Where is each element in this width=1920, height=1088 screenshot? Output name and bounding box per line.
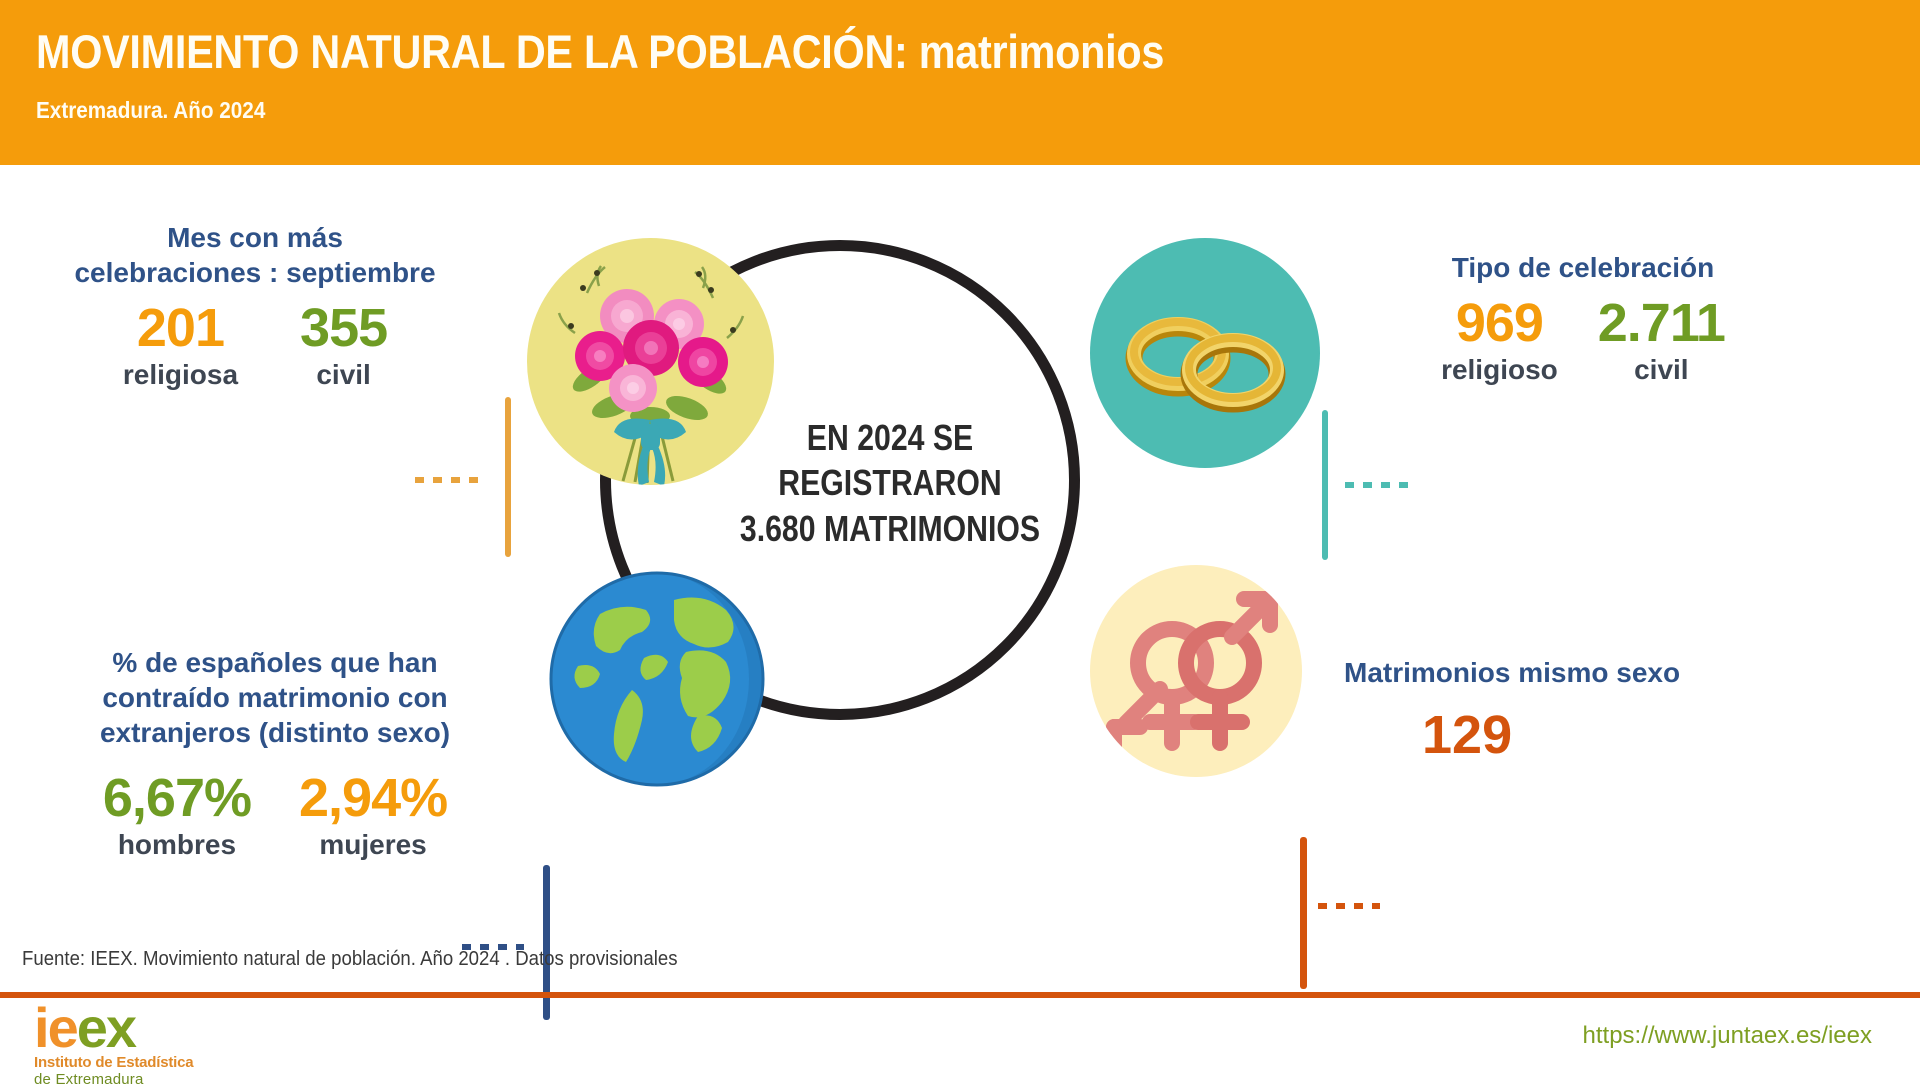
page-header: MOVIMIENTO NATURAL DE LA POBLACIÓN: matr… [0,0,1920,165]
stat-figures-celebration-type: 969 religioso 2.711 civil [1348,295,1818,386]
figure-religiosa: 201 religiosa [123,300,238,391]
divider-bar-top-right [1322,410,1328,560]
stat-heading-foreign-spouse: % de españoles que han contraído matrimo… [50,645,500,750]
ieex-logo-e1: e [48,996,77,1059]
infographic-stage: EN 2024 SE REGISTRARON 3.680 MATRIMONIOS… [0,165,1920,935]
stat-heading-month-line2: celebraciones : septiembre [20,255,490,290]
wedding-rings-icon [1090,238,1320,468]
center-summary: EN 2024 SE REGISTRARON 3.680 MATRIMONIOS [730,415,1049,551]
stat-heading-month-line1: Mes con más [20,220,490,255]
figure-religioso: 969 religioso [1441,295,1558,386]
divider-bar-top-left [505,397,511,557]
figure-religiosa-label: religiosa [123,359,238,391]
stat-figures-month: 201 religiosa 355 civil [20,300,490,391]
figure-religiosa-value: 201 [123,300,238,357]
page-title: MOVIMIENTO NATURAL DE LA POBLACIÓN: matr… [36,24,1694,79]
gender-symbols-icon [1090,565,1302,777]
stat-heading-same-sex: Matrimonios mismo sexo [1344,655,1822,690]
stat-block-celebration-type: Tipo de celebración 969 religioso 2.711 … [1348,250,1818,386]
figure-mujeres-value: 2,94% [299,770,447,827]
ieex-logo-e2: e [77,996,106,1059]
divider-bar-bottom-right [1300,837,1307,989]
figure-religioso-label: religioso [1441,354,1558,386]
ieex-logo-x: x [106,996,135,1059]
page-subtitle: Extremadura. Año 2024 [36,97,1732,124]
figure-civil-month: 355 civil [300,300,387,391]
figure-mujeres-label: mujeres [299,829,447,861]
stat-heading-celebration-type: Tipo de celebración [1348,250,1818,285]
figure-hombres: 6,67% hombres [103,770,251,861]
ieex-logo-line2: de Extremadura [34,1071,193,1088]
center-line-3: 3.680 MATRIMONIOS [730,506,1049,551]
figure-civil-month-label: civil [300,359,387,391]
stat-heading-month: Mes con más celebraciones : septiembre [20,220,490,290]
leader-dots-top-right [1345,482,1417,488]
figure-mujeres: 2,94% mujeres [299,770,447,861]
figure-civil-type-value: 2.711 [1598,295,1725,352]
website-url[interactable]: https://www.juntaex.es/ieex [1583,1022,1872,1050]
stat-block-same-sex: Matrimonios mismo sexo 129 [1322,655,1822,766]
globe-icon [548,570,766,788]
stat-heading-foreign-line1: % de españoles que han [50,645,500,680]
stat-block-foreign-spouse: % de españoles que han contraído matrimo… [50,645,500,861]
figure-religioso-value: 969 [1441,295,1558,352]
figure-hombres-label: hombres [103,829,251,861]
center-line-1: EN 2024 SE [730,415,1049,460]
ieex-logo: ieex Instituto de Estadística de Extrema… [34,1005,193,1088]
footer-divider [0,992,1920,998]
stat-heading-foreign-line3: extranjeros (distinto sexo) [50,715,500,750]
figure-hombres-value: 6,67% [103,770,251,827]
figure-civil-month-value: 355 [300,300,387,357]
leader-dots-top-left [415,477,487,483]
figure-same-sex-value: 129 [1422,704,1822,766]
center-line-2: REGISTRARON [730,460,1049,505]
stat-figures-foreign-spouse: 6,67% hombres 2,94% mujeres [50,770,500,861]
stat-heading-foreign-line2: contraído matrimonio con [50,680,500,715]
stat-block-month: Mes con más celebraciones : septiembre 2… [20,220,490,391]
figure-civil-type-label: civil [1598,354,1725,386]
figure-civil-type: 2.711 civil [1598,295,1725,386]
ieex-logo-wordmark: ieex [34,1005,193,1051]
ieex-logo-i: i [34,996,48,1059]
source-note: Fuente: IEEX. Movimiento natural de pobl… [22,948,678,971]
leader-dots-bottom-right [1318,903,1380,909]
